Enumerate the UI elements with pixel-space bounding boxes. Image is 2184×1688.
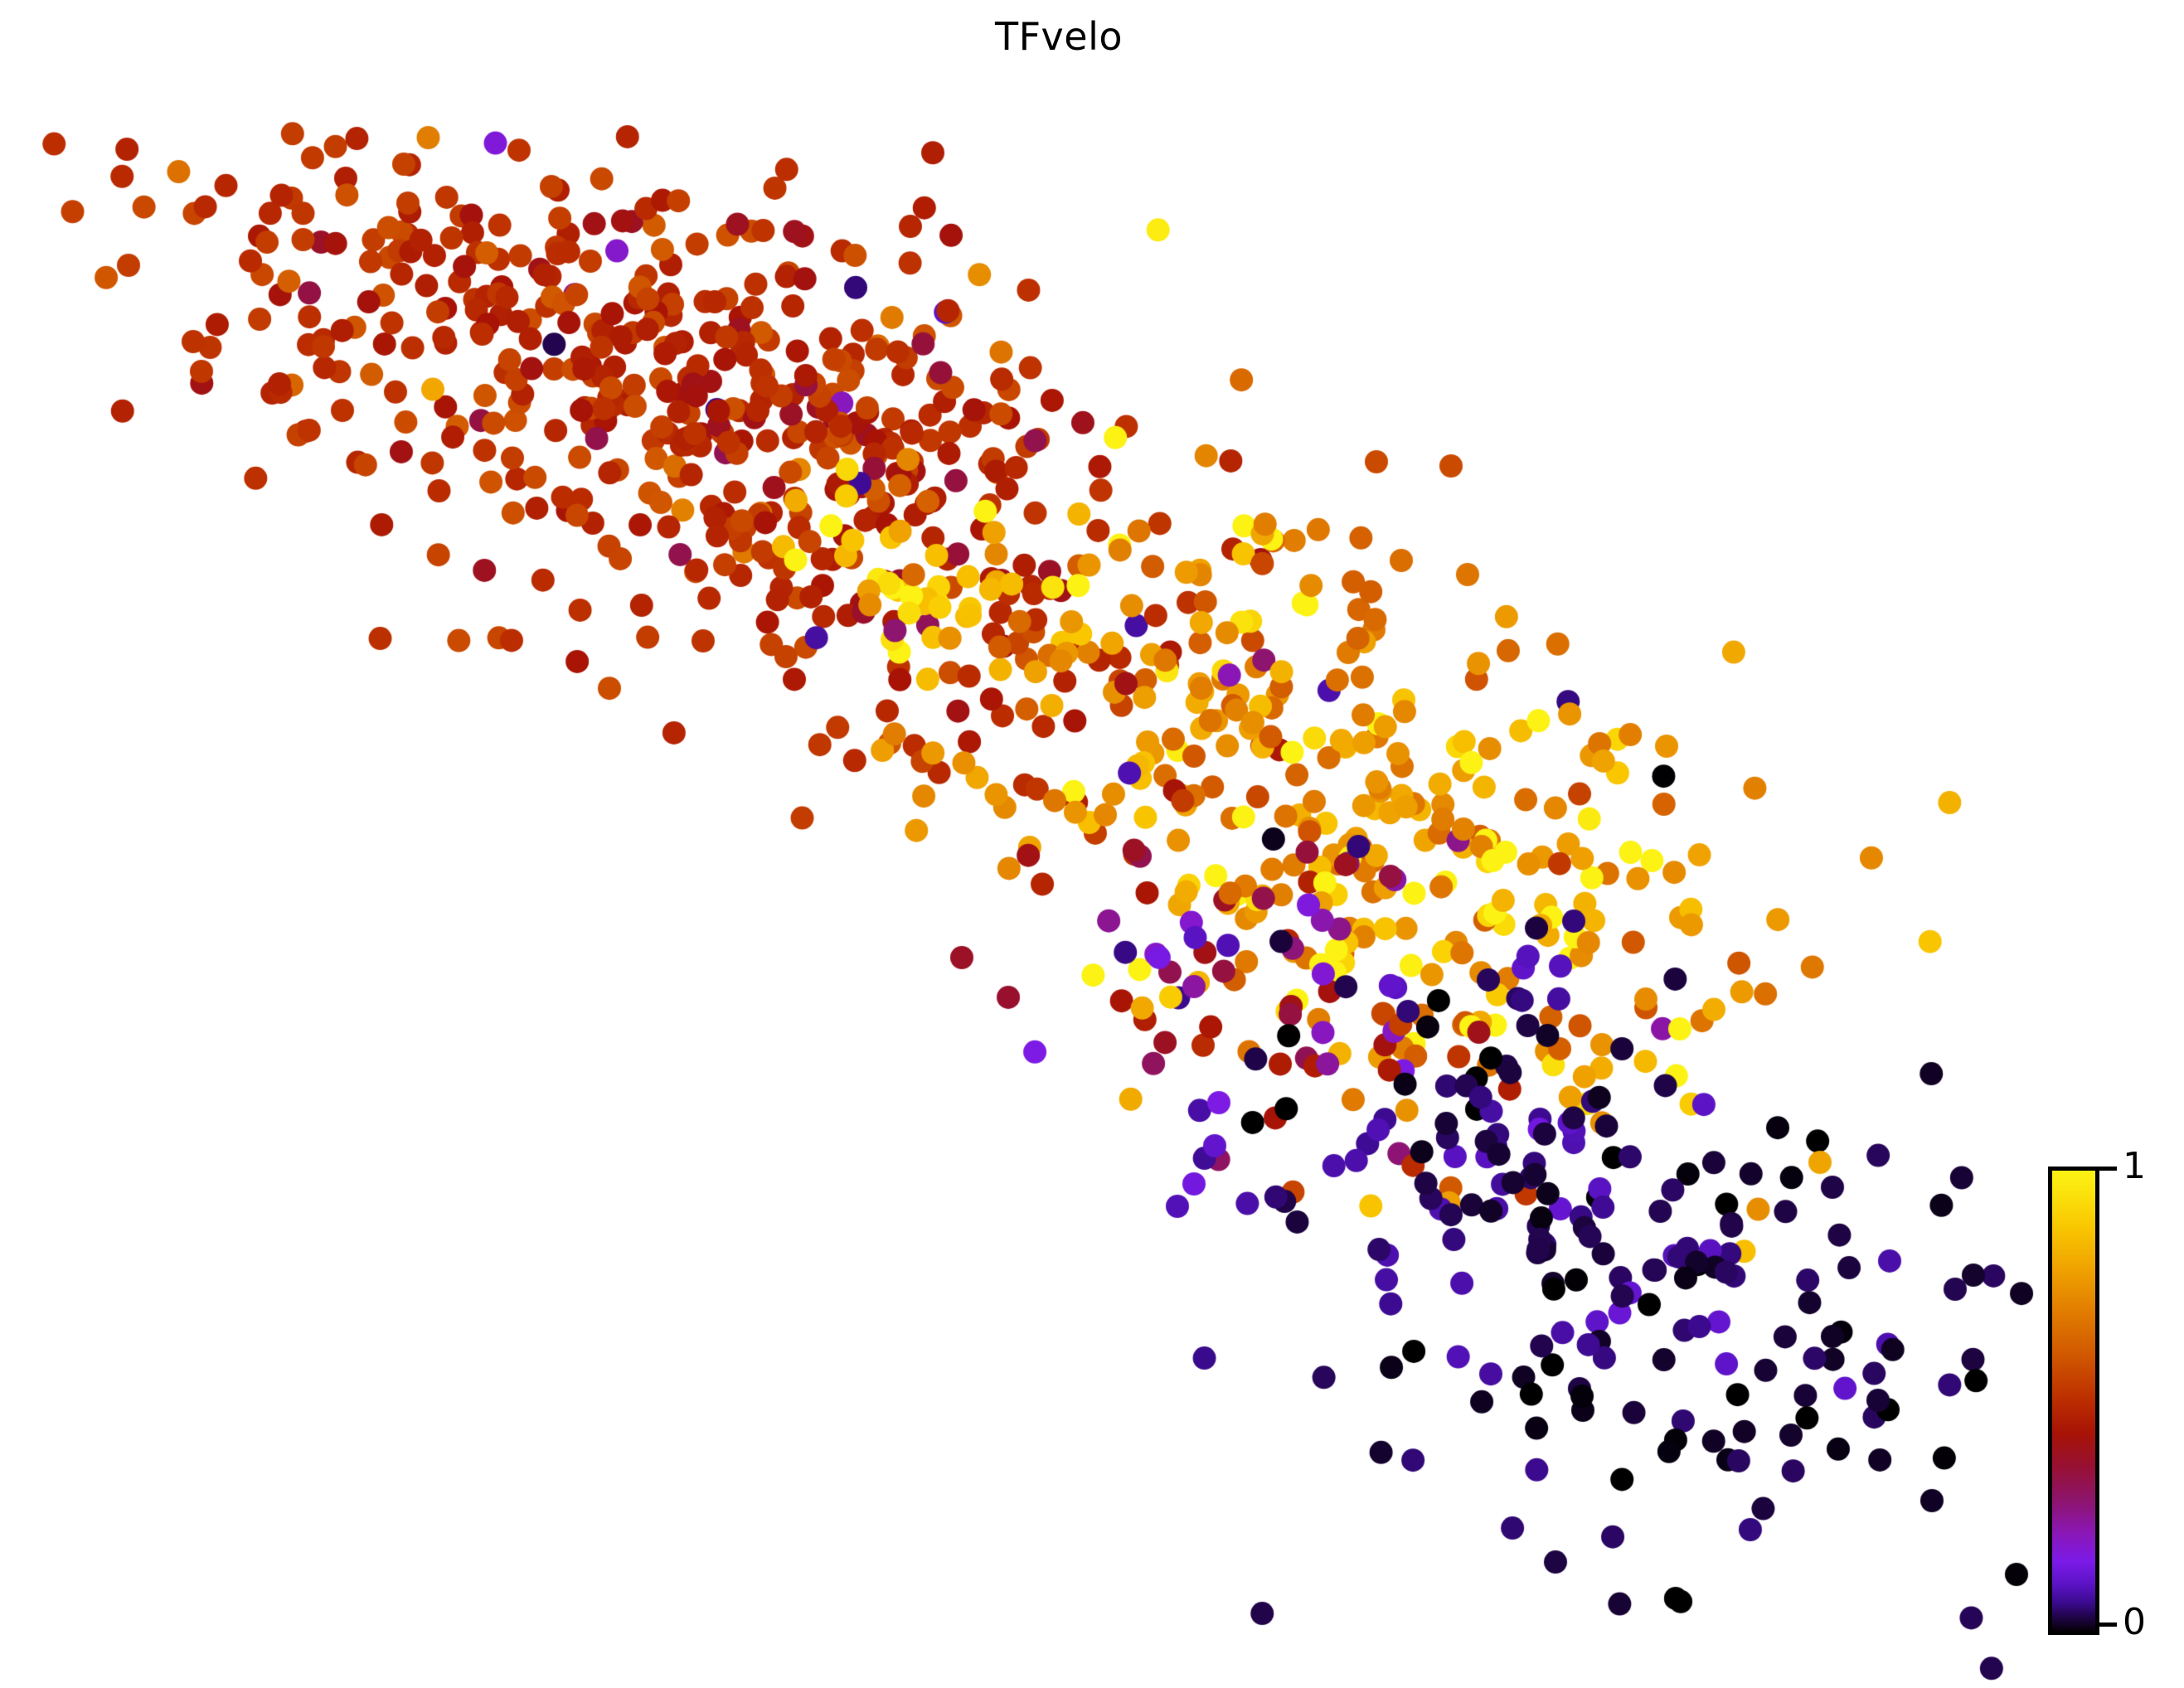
colorbar[interactable]: 1 0: [2041, 1146, 2184, 1660]
figure-canvas: TFvelo 1 0: [0, 0, 2184, 1688]
colorbar-gradient: [2048, 1167, 2099, 1635]
colorbar-label-max: 1: [2123, 1148, 2146, 1185]
scatter-points-layer: [0, 0, 2184, 1688]
colorbar-tick-min: [2095, 1623, 2117, 1627]
colorbar-label-min: 0: [2123, 1604, 2146, 1641]
scatter-plot-axes: [0, 0, 2184, 1688]
colorbar-tick-max: [2095, 1167, 2117, 1171]
